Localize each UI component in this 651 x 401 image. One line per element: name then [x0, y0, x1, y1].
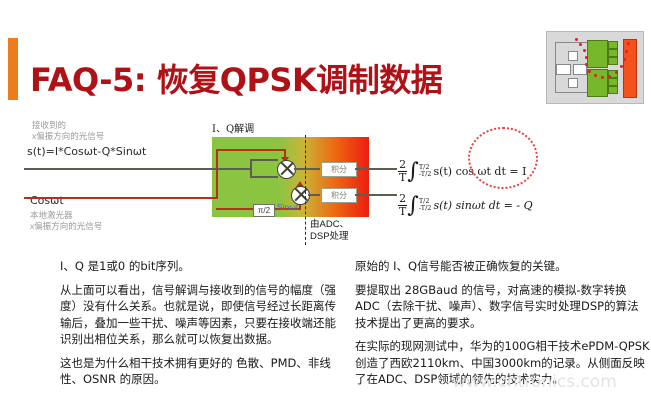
formula-i-fraction: 2T — [398, 159, 407, 183]
integral-sign-icon: ∫ — [407, 198, 418, 213]
lo-desc-line1: 本地激光器 — [30, 210, 73, 221]
body-text-left: I、Q 是1或0 的bit序列。 从上面可以看出，信号解调与接收到的信号的幅度（… — [60, 258, 342, 395]
iq-demodulation-diagram: 接收到的 x偏振方向的光信号 s(t)=I*Cosωt-Q*Sinωt Cosω… — [0, 115, 651, 255]
integrator-i: 积分 — [321, 162, 357, 177]
formula-i-limits: T/2-T/2 — [419, 164, 432, 178]
formula-q-body: s(t) sinωt dt = - Q — [431, 199, 532, 212]
lo-desc-line2: x偏振方向的光信号 — [30, 221, 102, 232]
slide-canvas: FAQ-5: 恢复QPSK调制数据 接收到的 x — [0, 0, 651, 401]
watermark: www.cntronics.com — [452, 372, 617, 392]
adc-dsp-note: 由ADC、 DSP处理 — [310, 219, 349, 243]
integral-sign-icon: ∫ — [407, 164, 418, 179]
integrator-q: 积分 — [321, 188, 357, 203]
coherent-receiver-thumbnail — [546, 31, 644, 104]
highlight-circle — [468, 127, 538, 189]
page-title: FAQ-5: 恢复QPSK调制数据 — [30, 55, 442, 101]
formula-q-fraction: 2T — [398, 193, 407, 217]
left-paragraph-3: 这也是为什么相干技术拥有更好的 色散、PMD、非线性、OSNR 的原因。 — [60, 355, 342, 388]
input-label-line1: 接收到的 — [32, 120, 66, 131]
right-paragraph-2: 要提取出 28GBaud 的信号，对高速的模拟-数字转换ADC（去除干扰、噪声）… — [355, 282, 650, 332]
input-equation: s(t)=I*Cosωt-Q*Sinωt — [27, 145, 146, 158]
phase-shifter-box: π/2 — [253, 204, 275, 217]
left-paragraph-2: 从上面可以看出，信号解调与接收到的信号的幅度（强度）没有什么关系。也就是说，即使… — [60, 282, 342, 348]
adc-boundary-dashed-line — [305, 135, 306, 245]
left-paragraph-1: I、Q 是1或0 的bit序列。 — [60, 258, 342, 275]
iq-demod-heading: I、Q解调 — [212, 120, 254, 135]
adc-note-line1: 由ADC、 — [310, 219, 349, 231]
adc-note-line2: DSP处理 — [310, 231, 349, 243]
local-oscillator-label: Cosωt — [30, 194, 64, 207]
formula-q-limits: T/2-T/2 — [419, 198, 432, 212]
title-accent-bar — [8, 38, 18, 100]
right-paragraph-1: 原始的 I、Q信号能否被正确恢复的关键。 — [355, 258, 650, 275]
formula-q: 2T∫T/2-T/2s(t) sinωt dt = - Q — [398, 193, 533, 217]
input-label-line2: x偏振方向的光信号 — [32, 131, 104, 142]
sin-wave-label: Sinωt — [277, 202, 298, 212]
